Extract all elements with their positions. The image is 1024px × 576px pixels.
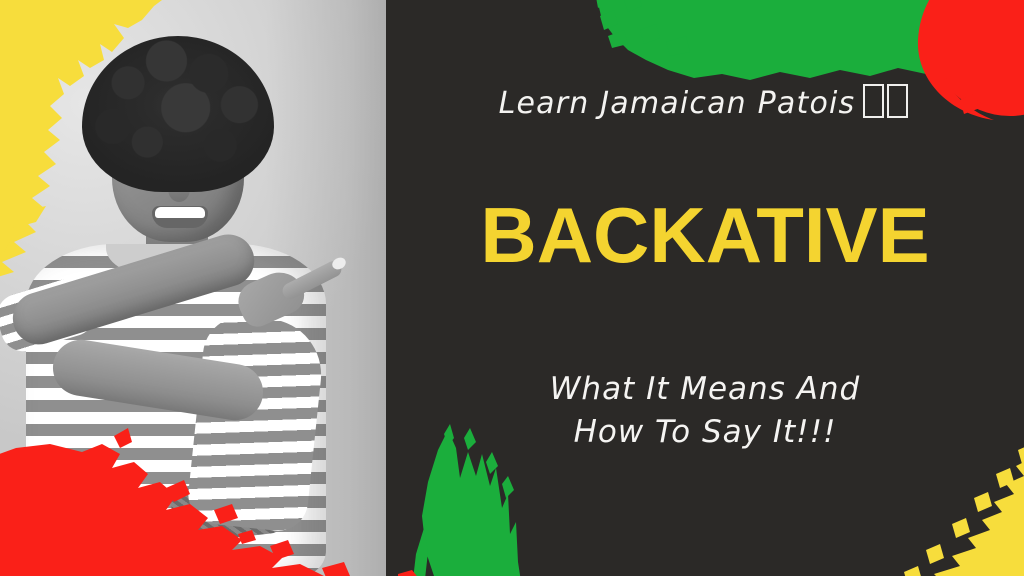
poster-text-content: Learn Jamaican Patois BACKATIVE What It … [386,0,1024,576]
teeth [155,207,205,218]
missing-glyph-flag-icon [863,84,911,121]
eyebrow-line: Learn Jamaican Patois [386,84,1024,121]
portrait-photo-panel [0,0,386,576]
woman-pointing-portrait [0,0,386,576]
curly-hair [82,36,274,192]
striped-sleeve-right-arm [185,312,326,533]
headline-word: BACKATIVE [386,196,1024,274]
patois-word-poster: Learn Jamaican Patois BACKATIVE What It … [0,0,1024,576]
subtitle-block: What It Means And How To Say It!!! [386,368,1024,454]
eyebrow-text: Learn Jamaican Patois [499,86,856,121]
smiling-mouth [152,206,208,228]
subtitle-line-2: How To Say It!!! [386,411,1024,454]
subtitle-line-1: What It Means And [386,368,1024,411]
